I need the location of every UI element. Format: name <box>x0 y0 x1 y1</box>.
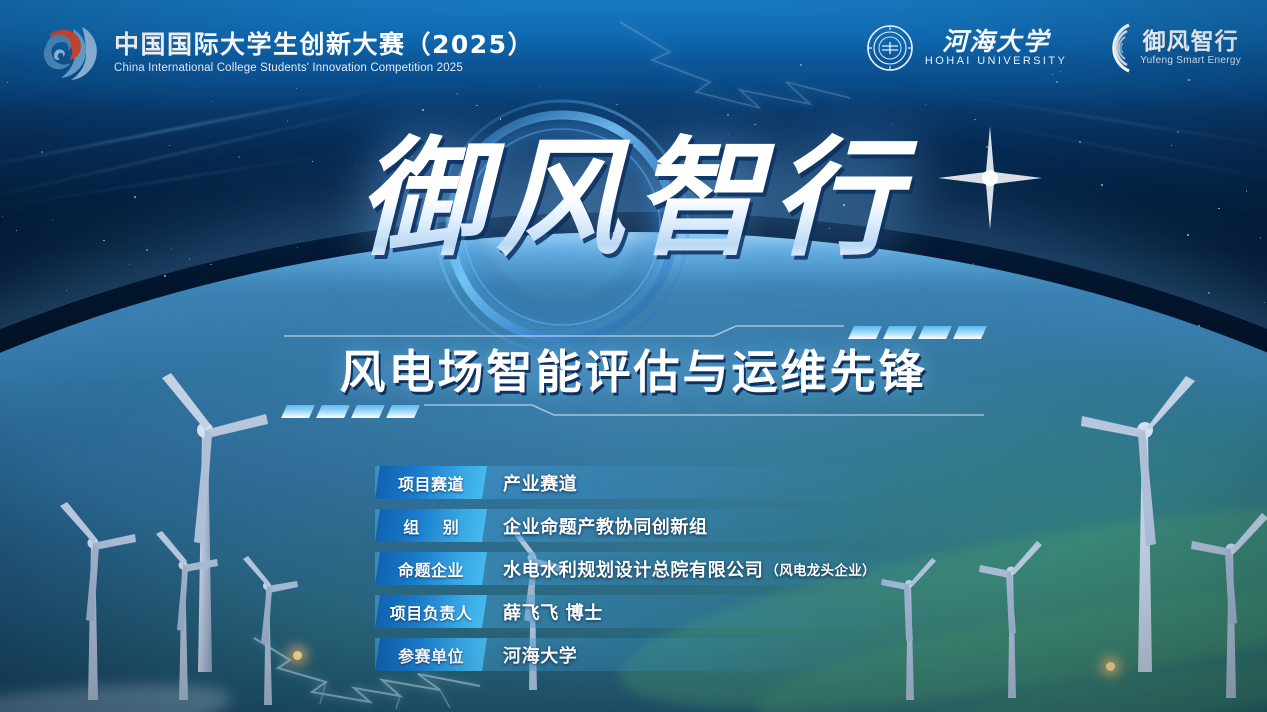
presentation-slide: 中国国际大学生创新大赛（2025） China International Co… <box>0 0 1267 712</box>
deco-line-icon <box>424 403 984 417</box>
info-row-label-tag: 命题企业 <box>375 552 487 585</box>
info-row-value: 水电水利规划设计总院有限公司 <box>503 556 763 582</box>
info-row-label-tag: 项目赛道 <box>375 466 487 499</box>
partner-logos: 河海大学 HOHAI UNIVERSITY 御风智行 Yufeng Smart … <box>866 22 1241 74</box>
deco-line-icon <box>284 324 844 338</box>
subtitle-decoration-top <box>284 322 984 344</box>
info-row-value: 企业命题产教协同创新组 <box>503 513 708 539</box>
info-row-value: 产业赛道 <box>503 470 577 496</box>
info-row: 参赛单位河海大学 <box>375 638 1075 671</box>
slide-header: 中国国际大学生创新大赛（2025） China International Co… <box>0 0 1267 100</box>
info-row-label: 项目赛道 <box>398 471 464 495</box>
star <box>1081 110 1082 111</box>
info-row: 组 别企业命题产教协同创新组 <box>375 509 1075 542</box>
info-row-value-cell: 水电水利规划设计总院有限公司（风电龙头企业） <box>487 552 876 585</box>
info-row-label: 项目负责人 <box>390 600 473 624</box>
star <box>211 101 212 102</box>
hohai-seal-icon <box>866 24 914 72</box>
info-row-label-tag: 参赛单位 <box>375 638 487 671</box>
info-row-value: 薛飞飞 博士 <box>503 599 603 625</box>
competition-swirl-icon <box>40 24 100 82</box>
competition-title-en: China International College Students' In… <box>114 62 534 75</box>
star <box>974 119 975 120</box>
page-title: 御风智行 <box>339 128 927 271</box>
info-row: 命题企业水电水利规划设计总院有限公司（风电龙头企业） <box>375 552 1075 585</box>
subtitle-decoration-bottom <box>284 401 984 423</box>
wind-turbine <box>1190 508 1267 698</box>
hero-subtitle-zone: 风电场智能评估与运维先锋 <box>0 322 1267 423</box>
hohai-university-logo: 河海大学 HOHAI UNIVERSITY <box>866 24 1067 72</box>
info-row-label-tag: 项目负责人 <box>375 595 487 628</box>
wind-turbine <box>148 530 218 700</box>
competition-title-cn: 中国国际大学生创新大赛（2025） <box>114 31 534 59</box>
info-row: 项目赛道产业赛道 <box>375 466 1075 499</box>
info-row-label: 参赛单位 <box>398 643 464 667</box>
info-row-value-note: （风电龙头企业） <box>765 559 875 579</box>
project-info-table: 项目赛道产业赛道组 别企业命题产教协同创新组命题企业水电水利规划设计总院有限公司… <box>375 466 1075 671</box>
info-row-value: 河海大学 <box>503 642 577 668</box>
info-row-label: 组 别 <box>394 514 468 538</box>
yufeng-brand-logo: 御风智行 Yufeng Smart Energy <box>1087 22 1241 74</box>
info-row-value-cell: 企业命题产教协同创新组 <box>487 509 708 542</box>
yufeng-name-cn: 御风智行 <box>1143 31 1239 54</box>
info-row: 项目负责人薛飞飞 博士 <box>375 595 1075 628</box>
deco-parallelograms <box>284 405 417 418</box>
info-row-value-cell: 河海大学 <box>487 638 577 671</box>
yufeng-arc-icon <box>1087 22 1133 74</box>
info-row-value-cell: 产业赛道 <box>487 466 577 499</box>
hohai-name-cn: 河海大学 <box>942 29 1050 54</box>
hero-title-zone: 御风智行 <box>0 128 1267 271</box>
info-row-label: 命题企业 <box>398 557 464 581</box>
competition-logo: 中国国际大学生创新大赛（2025） China International Co… <box>40 24 534 82</box>
yufeng-name-en: Yufeng Smart Energy <box>1140 56 1241 66</box>
hohai-name-en: HOHAI UNIVERSITY <box>925 56 1067 67</box>
page-subtitle: 风电场智能评估与运维先锋 <box>340 346 928 399</box>
info-row-label-tag: 组 别 <box>375 509 487 542</box>
deco-parallelograms <box>851 326 984 339</box>
wind-turbine <box>236 555 298 705</box>
wind-turbine <box>50 500 136 700</box>
info-row-value-cell: 薛飞飞 博士 <box>487 595 603 628</box>
